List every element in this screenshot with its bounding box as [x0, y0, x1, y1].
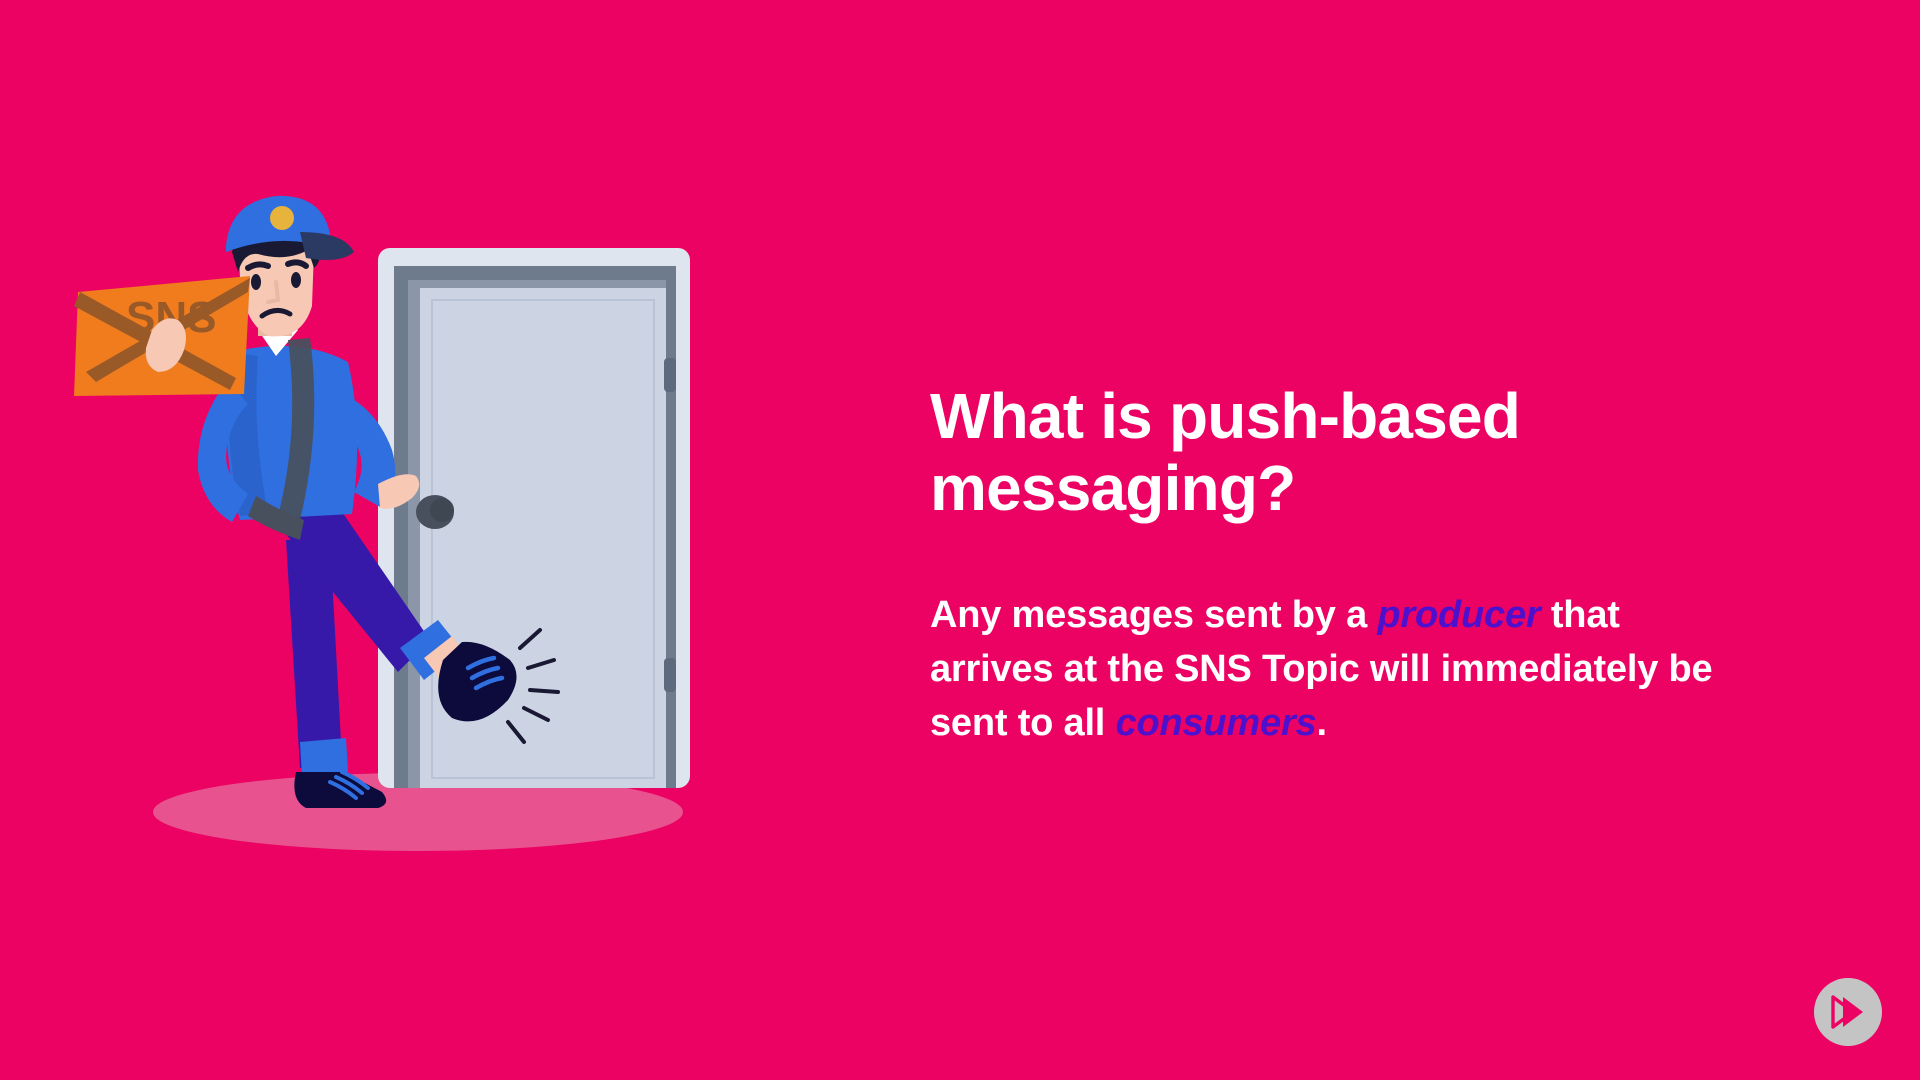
- accent-producer: producer: [1377, 594, 1540, 636]
- illustration-mail-carrier-kicking-door: SNS: [0, 0, 860, 1080]
- door-knob-highlight: [430, 498, 454, 522]
- door-hinge-bottom: [664, 658, 676, 692]
- body-segment-1: Any messages sent by a: [930, 594, 1377, 636]
- pluralsight-logo: [1814, 978, 1882, 1046]
- door-hinge-top: [664, 358, 676, 392]
- cap-badge: [270, 206, 294, 230]
- eye-left: [251, 274, 261, 290]
- eyebrow-left: [248, 264, 268, 268]
- accent-consumers: consumers: [1116, 702, 1317, 744]
- eye-right: [291, 272, 301, 288]
- page-title: What is push-based messaging?: [930, 380, 1570, 525]
- text-block: What is push-based messaging? Any messag…: [930, 380, 1750, 750]
- door-group: [378, 248, 690, 788]
- cap-brim: [300, 232, 354, 260]
- body-paragraph: Any messages sent by a producer that arr…: [930, 525, 1720, 751]
- eyebrow-right: [288, 262, 306, 266]
- body-segment-3: .: [1316, 702, 1326, 744]
- play-mark-icon: [1827, 992, 1869, 1032]
- slide-canvas: SNS What is push-based messaging? Any me…: [0, 0, 1920, 1080]
- envelope-sns: SNS: [74, 276, 250, 396]
